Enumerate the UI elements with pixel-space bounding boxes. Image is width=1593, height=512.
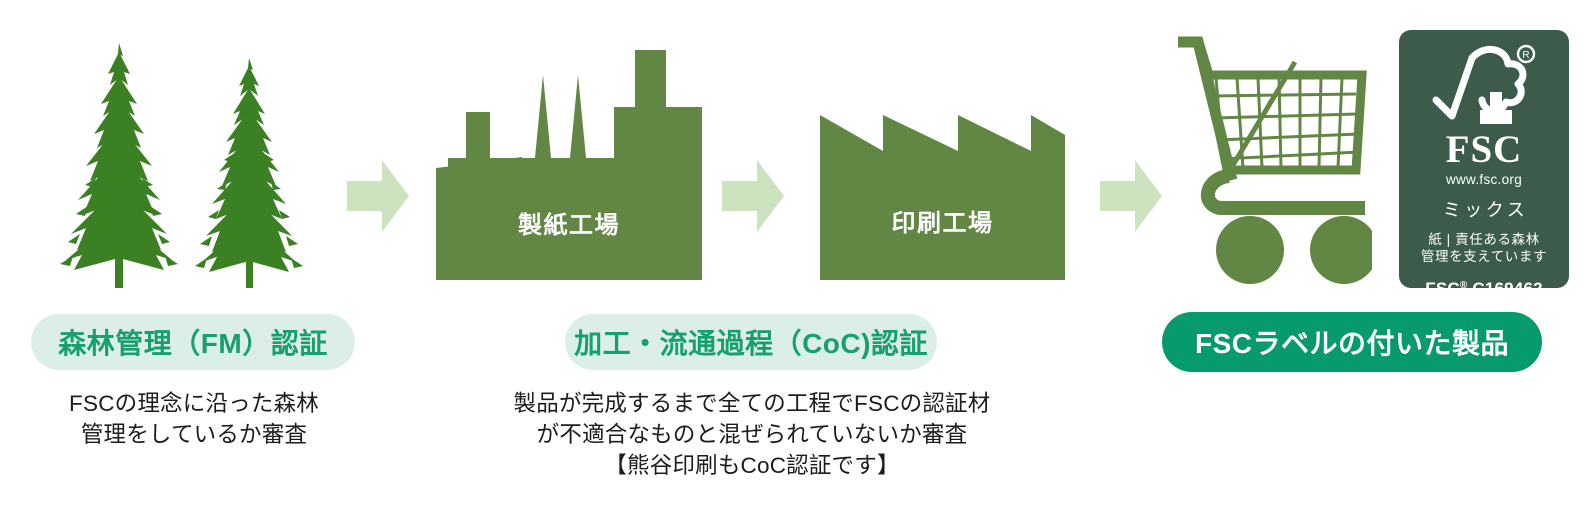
paper-mill-factory-icon [436, 50, 702, 280]
caption-line: FSCの理念に沿った森林 [0, 388, 388, 419]
right-arrow-icon [1100, 160, 1162, 232]
fsc-checkmark-tree-icon: R [1432, 44, 1536, 130]
fsc-code-registered-mark: ® [1460, 280, 1468, 291]
fsc-url: www.fsc.org [1446, 172, 1522, 187]
paper-mill-label: 製紙工場 [436, 205, 702, 240]
fsc-label-badge: R FSC www.fsc.org ミックス 紙 | 責任ある森林 管理を支えて… [1399, 30, 1569, 288]
fsc-certification-flow-diagram: 製紙工場 印刷工場 [0, 0, 1593, 512]
caption-forest-management: FSCの理念に沿った森林 管理をしているか審査 [0, 388, 388, 450]
fsc-wordmark: FSC [1446, 130, 1523, 169]
fsc-description: 紙 | 責任ある森林 管理を支えています [1421, 232, 1547, 265]
pill-fsc-labeled-product: FSCラベルの付いた製品 [1162, 312, 1542, 372]
fsc-description-line: 管理を支えています [1421, 249, 1547, 266]
fsc-description-line: 紙 | 責任ある森林 [1421, 232, 1547, 249]
fsc-license-code: FSC® C169462 [1425, 276, 1543, 298]
right-arrow-icon [347, 160, 409, 232]
caption-coc: 製品が完成するまで全ての工程でFSCの認証材 が不適合なものと混ぜられていないか… [460, 388, 1044, 481]
fsc-mix-label: ミックス [1440, 200, 1528, 220]
printing-plant-factory-icon [820, 108, 1065, 280]
right-arrow-icon [722, 160, 784, 232]
caption-line: 管理をしているか審査 [0, 419, 388, 450]
caption-line: 製品が完成するまで全ての工程でFSCの認証材 [460, 388, 1044, 419]
two-conifer-trees-icon [40, 38, 320, 290]
svg-text:R: R [1522, 50, 1529, 61]
fsc-code-value: C169462 [1472, 279, 1542, 298]
caption-line: 【熊谷印刷もCoC認証です】 [460, 450, 1044, 481]
printing-plant-label: 印刷工場 [820, 203, 1065, 238]
pill-forest-management-certification: 森林管理（FM）認証 [31, 314, 355, 370]
caption-line: が不適合なものと混ぜられていないか審査 [460, 419, 1044, 450]
pill-coc-certification: 加工・流通過程（CoC)認証 [565, 314, 937, 370]
shopping-cart-icon [1172, 28, 1372, 286]
fsc-code-prefix: FSC [1425, 279, 1460, 298]
